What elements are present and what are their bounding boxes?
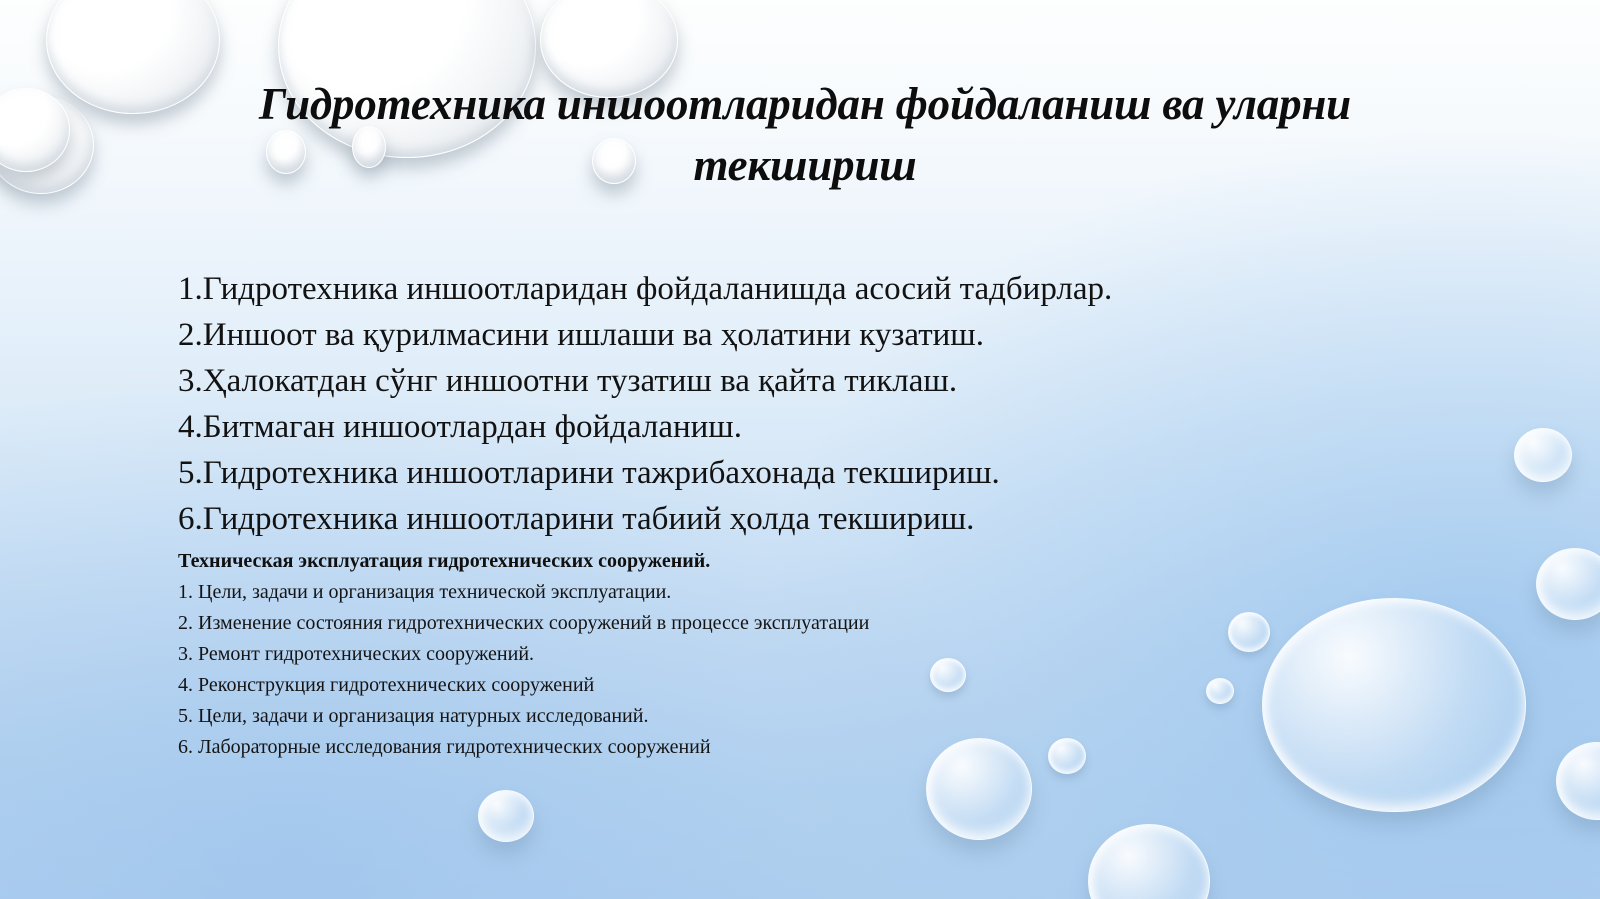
list-item: 3. Ремонт гидротехнических сооружений. xyxy=(178,639,1298,670)
water-droplet-top-left-edge xyxy=(0,96,94,194)
russian-section-heading: Техническая эксплуатация гидротехнически… xyxy=(178,546,1298,577)
water-droplet-bottom-left xyxy=(478,790,534,842)
water-droplet-right-small xyxy=(1514,428,1572,482)
list-item: 1.Гидротехника иншоотларидан фойдаланишд… xyxy=(178,266,1398,312)
list-item: 4.Битмаган иншоотлардан фойдаланиш. xyxy=(178,404,1398,450)
russian-topic-block: Техническая эксплуатация гидротехнически… xyxy=(178,546,1298,763)
list-item: 6.Гидротехника иншоотларини табиий ҳолда… xyxy=(178,496,1398,542)
list-item: 2.Иншоот ва қурилмасини ишлаши ва ҳолати… xyxy=(178,312,1398,358)
presentation-slide: Гидротехника иншоотларидан фойдаланиш ва… xyxy=(0,0,1600,899)
water-droplet-right-mid xyxy=(1536,548,1600,620)
water-droplet-bottom-right-big xyxy=(1262,598,1526,812)
list-item: 3.Ҳалокатдан сўнг иншоотни тузатиш ва қа… xyxy=(178,358,1398,404)
water-droplet-right-far-edge xyxy=(1556,742,1600,820)
list-item: 1. Цели, задачи и организация техническо… xyxy=(178,577,1298,608)
water-droplet-left-mid xyxy=(0,88,70,172)
slide-title: Гидротехника иншоотларидан фойдаланиш ва… xyxy=(230,74,1380,196)
list-item: 4. Реконструкция гидротехнических сооруж… xyxy=(178,670,1298,701)
uzbek-topic-list: 1.Гидротехника иншоотларидан фойдаланишд… xyxy=(178,266,1398,542)
list-item: 6. Лабораторные исследования гидротехнич… xyxy=(178,732,1298,763)
water-droplet-bottom-far-right xyxy=(1088,824,1210,899)
list-item: 5. Цели, задачи и организация натурных и… xyxy=(178,701,1298,732)
list-item: 2. Изменение состояния гидротехнических … xyxy=(178,608,1298,639)
list-item: 5.Гидротехника иншоотларини тажрибахонад… xyxy=(178,450,1398,496)
water-droplet-top-left-large xyxy=(46,0,220,114)
